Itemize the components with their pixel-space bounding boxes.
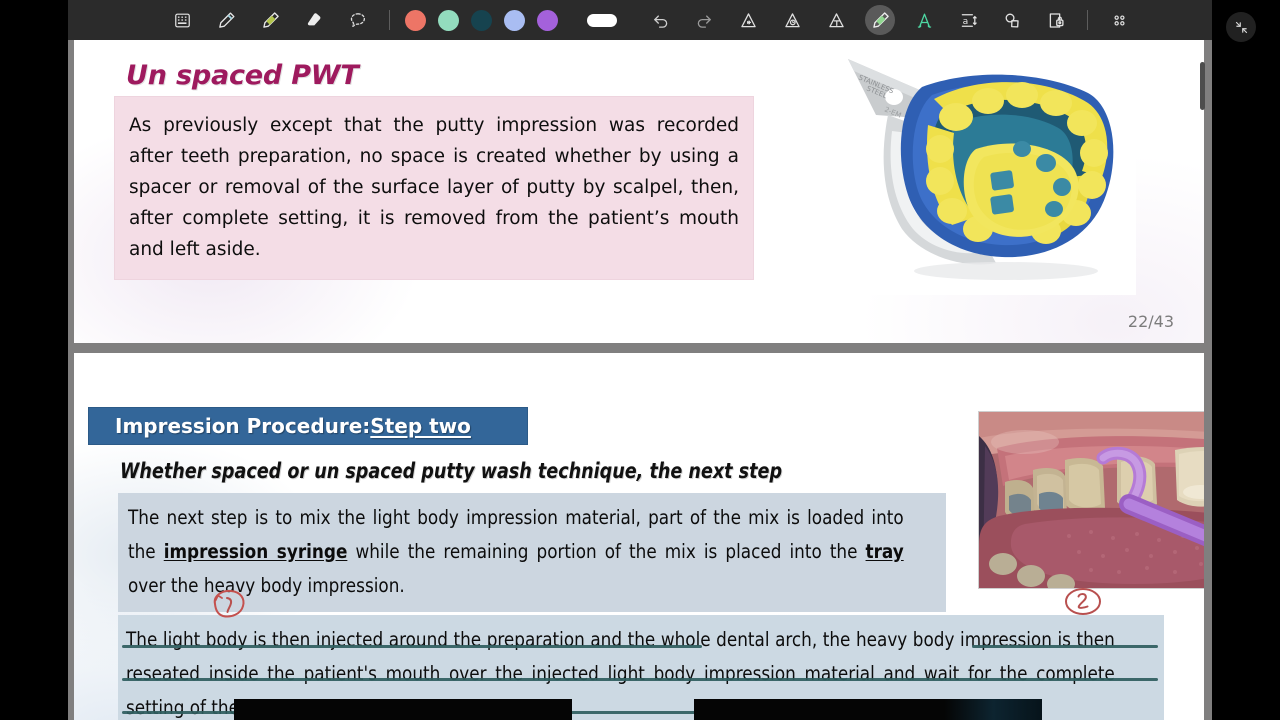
slide-22[interactable]: Un spaced PWT As previously except that … xyxy=(74,40,1204,343)
p1-bold2: tray xyxy=(866,540,904,563)
shape-text-icon[interactable] xyxy=(821,5,851,35)
slide-22-text-box: As previously except that the putty impr… xyxy=(114,96,754,280)
slide-23-banner-emphasis: Step two xyxy=(370,414,471,438)
page-indicator: 22/43 xyxy=(1128,312,1174,331)
collapse-icon[interactable] xyxy=(1226,12,1256,42)
intraoral-light-body-injection-photo xyxy=(978,411,1204,589)
pen-icon[interactable] xyxy=(211,5,241,35)
svg-text:a: a xyxy=(962,16,968,27)
right-letterbox xyxy=(1212,0,1280,720)
slide-23-banner: Impression Procedure: Step two xyxy=(88,407,528,445)
slide-22-body-text: As previously except that the putty impr… xyxy=(129,110,739,265)
color-swatch-teal[interactable] xyxy=(471,10,492,31)
slide-23-subtitle: Whether spaced or un spaced putty wash t… xyxy=(120,459,782,483)
annotation-circle-1 xyxy=(206,587,244,617)
toolbar-divider-1 xyxy=(389,10,390,30)
left-letterbox xyxy=(0,0,68,720)
ink-to-text-icon[interactable] xyxy=(909,5,939,35)
shapes-icon[interactable] xyxy=(997,5,1027,35)
p1-part2: while the remaining portion of the mix i… xyxy=(347,540,865,563)
slide-23-banner-prefix: Impression Procedure: xyxy=(115,414,370,438)
shape-fill-icon[interactable] xyxy=(777,5,807,35)
dental-putty-impression-tray-photo: STAINLESS STEEL 2-EM xyxy=(836,45,1136,295)
lasso-select-icon[interactable] xyxy=(343,5,373,35)
annotation-circle-2 xyxy=(1060,585,1098,615)
lock-icon[interactable] xyxy=(1041,5,1071,35)
color-swatch-periwinkle[interactable] xyxy=(504,10,525,31)
toolbar-divider-2 xyxy=(1087,10,1088,30)
toolbar-actions-group: a xyxy=(638,5,1078,35)
ink-underline-1 xyxy=(122,645,702,648)
slide-22-title: Un spaced PWT xyxy=(126,60,359,91)
highlighter-active-icon[interactable] xyxy=(865,5,895,35)
eraser-icon[interactable] xyxy=(299,5,329,35)
toolbar-tools-group xyxy=(160,5,380,35)
shape-sparkle-icon[interactable] xyxy=(733,5,763,35)
slide-23-image-placeholder-right xyxy=(694,699,1042,720)
slide-22-content: Un spaced PWT As previously except that … xyxy=(74,40,1204,343)
keyboard-icon[interactable] xyxy=(167,5,197,35)
apps-grid-icon[interactable] xyxy=(1104,5,1134,35)
slide-23[interactable]: Impression Procedure: Step two Whether s… xyxy=(74,353,1204,720)
redo-icon[interactable] xyxy=(689,5,719,35)
undo-icon[interactable] xyxy=(645,5,675,35)
color-swatch-purple[interactable] xyxy=(537,10,558,31)
app-root: a xyxy=(0,0,1280,720)
toolbar-colors-group xyxy=(399,10,626,31)
annotation-toolbar: a xyxy=(68,0,1212,40)
document-viewport[interactable]: Un spaced PWT As previously except that … xyxy=(68,40,1212,720)
stroke-width-pill[interactable] xyxy=(587,14,617,27)
vertical-scrollbar-thumb[interactable] xyxy=(1200,62,1205,110)
p1-part3: over the heavy body impression. xyxy=(128,574,405,597)
highlighter-pen-icon[interactable] xyxy=(255,5,285,35)
vertical-scrollbar[interactable] xyxy=(1201,40,1209,720)
text-size-icon[interactable]: a xyxy=(953,5,983,35)
ink-underline-2 xyxy=(972,645,1158,648)
ink-underline-3 xyxy=(122,678,1158,681)
p1-bold1: impression syringe xyxy=(164,540,348,563)
color-swatch-mint[interactable] xyxy=(438,10,459,31)
slide-23-image-placeholder-left xyxy=(234,699,572,720)
color-swatch-salmon[interactable] xyxy=(405,10,426,31)
